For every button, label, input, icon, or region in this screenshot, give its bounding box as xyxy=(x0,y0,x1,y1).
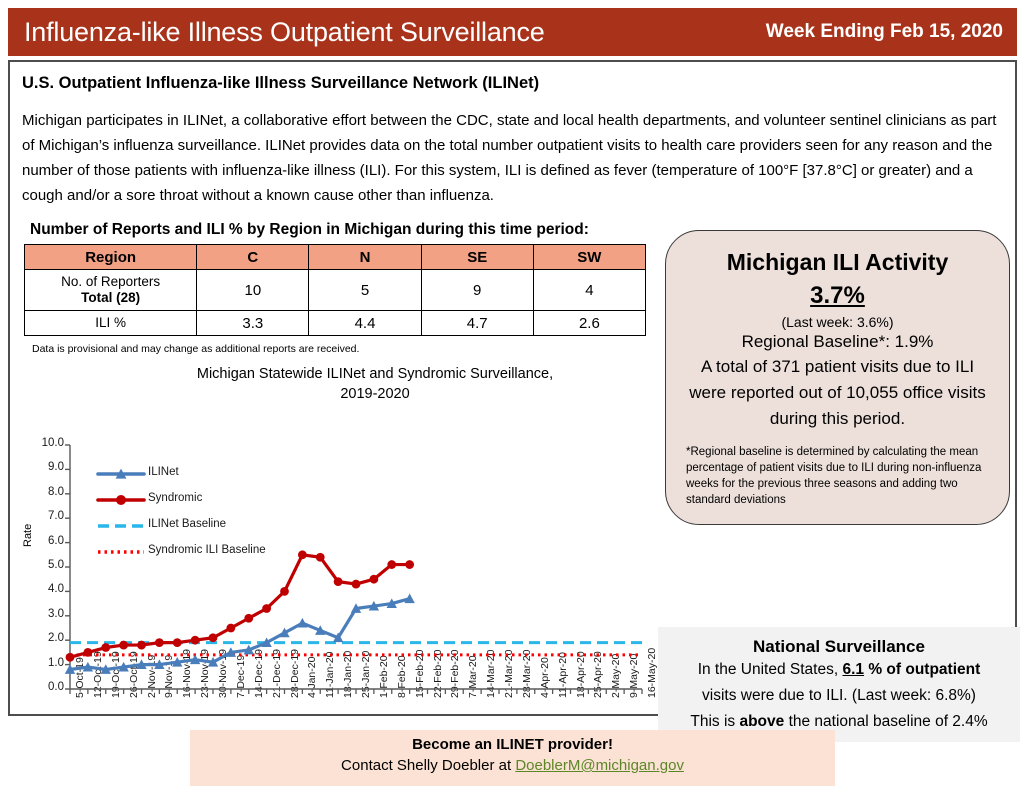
national-line-2: visits were due to ILI. (Last week: 6.8%… xyxy=(658,683,1020,709)
become-provider-footer: Become an ILINET provider! Contact Shell… xyxy=(190,730,835,786)
row-label-reporters: No. of Reporters Total (28) xyxy=(25,270,197,311)
footer-title: Become an ILINET provider! xyxy=(190,736,835,753)
national-percent-value: 6.1 xyxy=(842,661,864,678)
row-label-line1: No. of Reporters xyxy=(61,274,160,289)
table-header-row: Region C N SE SW xyxy=(25,245,646,270)
column-header-c: C xyxy=(197,245,309,270)
region-table-caption: Number of Reports and ILI % by Region in… xyxy=(30,221,589,239)
cell-ili-c: 3.3 xyxy=(197,311,309,336)
ili-total-visits-text: A total of 371 patient visits due to ILI… xyxy=(686,354,989,432)
legend-entry: ILINet xyxy=(148,466,179,478)
legend-entry: ILINet Baseline xyxy=(148,518,226,530)
ili-baseline-footnote: *Regional baseline is determined by calc… xyxy=(686,444,989,508)
ili-last-week: (Last week: 3.6%) xyxy=(686,314,989,330)
ili-regional-baseline: Regional Baseline*: 1.9% xyxy=(686,332,989,352)
national-line3-emphasis: above xyxy=(739,713,784,730)
ili-percent-value: 3.7 xyxy=(810,282,843,309)
footer-email-link[interactable]: DoeblerM@michigan.gov xyxy=(515,757,684,774)
table-row: ILI % 3.3 4.4 4.7 2.6 xyxy=(25,311,646,336)
legend-entry: Syndromic xyxy=(148,492,202,504)
region-table: Region C N SE SW No. of Reporters Total … xyxy=(24,244,646,336)
cell-reporters-n: 5 xyxy=(309,270,421,311)
cell-ili-sw: 2.6 xyxy=(533,311,645,336)
legend-entry: Syndromic ILI Baseline xyxy=(148,544,266,556)
page-title: Influenza-like Illness Outpatient Survei… xyxy=(24,17,545,48)
main-content-panel: U.S. Outpatient Influenza-like Illness S… xyxy=(8,60,1017,716)
ili-percent-symbol: % xyxy=(844,282,865,309)
column-header-se: SE xyxy=(421,245,533,270)
national-line3-pre: This is xyxy=(690,713,739,730)
intro-paragraph: Michigan participates in ILINet, a colla… xyxy=(22,108,1007,208)
cell-reporters-c: 10 xyxy=(197,270,309,311)
ilinet-syndromic-chart: Michigan Statewide ILINet and Syndromic … xyxy=(20,362,650,714)
provisional-data-note: Data is provisional and may change as ad… xyxy=(32,343,359,355)
footer-contact-prefix: Contact Shelly Doebler at xyxy=(341,757,515,774)
column-header-sw: SW xyxy=(533,245,645,270)
page-header-banner: Influenza-like Illness Outpatient Survei… xyxy=(8,8,1017,56)
national-line1-post: % of outpatient xyxy=(864,661,980,678)
cell-ili-n: 4.4 xyxy=(309,311,421,336)
row-label-ili-pct: ILI % xyxy=(25,311,197,336)
footer-contact-line: Contact Shelly Doebler at DoeblerM@michi… xyxy=(190,757,835,774)
cell-reporters-se: 9 xyxy=(421,270,533,311)
section-title: U.S. Outpatient Influenza-like Illness S… xyxy=(22,74,539,93)
cell-reporters-sw: 4 xyxy=(533,270,645,311)
cell-ili-se: 4.7 xyxy=(421,311,533,336)
national-title: National Surveillance xyxy=(658,637,1020,657)
national-line1-pre: In the United States, xyxy=(698,661,843,678)
column-header-n: N xyxy=(309,245,421,270)
ili-activity-percent: 3.7% xyxy=(686,282,989,310)
chart-plot-area xyxy=(20,362,650,714)
table-row: No. of Reporters Total (28) 10 5 9 4 xyxy=(25,270,646,311)
ili-surveillance-page: Influenza-like Illness Outpatient Survei… xyxy=(0,0,1025,790)
row-label-line2: Total (28) xyxy=(81,290,140,305)
column-header-region: Region xyxy=(25,245,197,270)
week-ending-label: Week Ending Feb 15, 2020 xyxy=(766,21,1003,43)
national-line-1: In the United States, 6.1 % of outpatien… xyxy=(658,657,1020,683)
national-line3-post: the national baseline of 2.4% xyxy=(784,713,987,730)
michigan-ili-activity-card: Michigan ILI Activity 3.7% (Last week: 3… xyxy=(665,230,1010,525)
ili-activity-title: Michigan ILI Activity xyxy=(686,249,989,276)
national-surveillance-card: National Surveillance In the United Stat… xyxy=(658,627,1020,742)
